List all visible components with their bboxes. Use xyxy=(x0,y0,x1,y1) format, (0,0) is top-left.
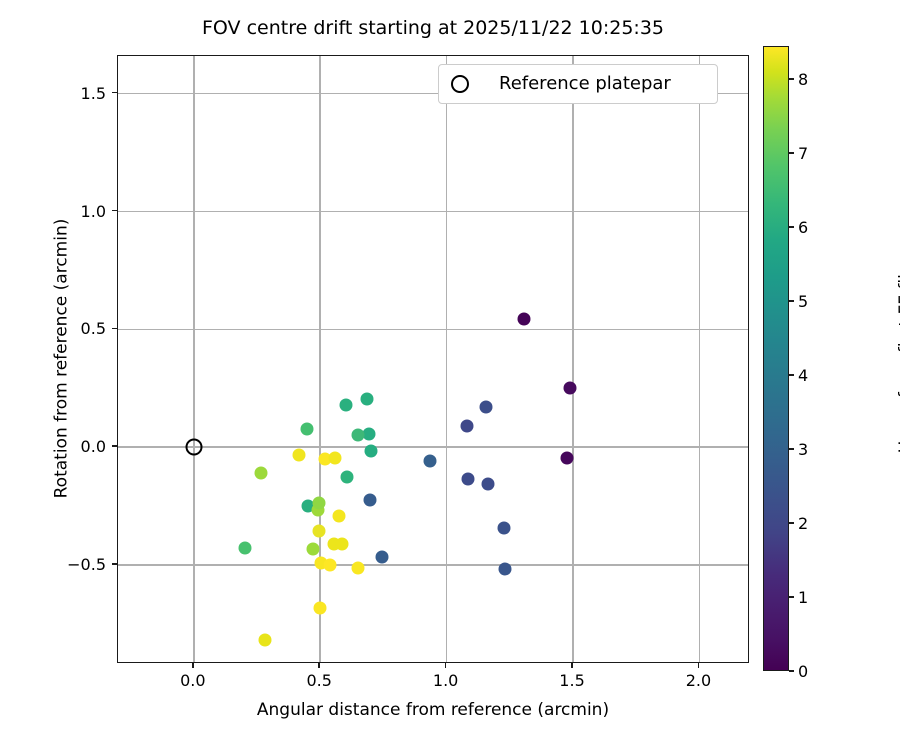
scatter-point xyxy=(351,429,364,442)
scatter-point xyxy=(339,399,352,412)
plot-axes xyxy=(117,55,749,663)
scatter-point xyxy=(365,444,378,457)
x-axis-tick-label: 1.0 xyxy=(411,671,481,690)
colorbar-tick-label: 8 xyxy=(798,70,808,89)
colorbar-tick xyxy=(789,78,794,80)
scatter-point xyxy=(423,455,436,468)
y-axis-tick-label: 0.5 xyxy=(36,319,106,338)
scatter-point xyxy=(360,392,373,405)
y-axis-tick xyxy=(112,563,117,565)
gridline-vertical xyxy=(446,56,448,662)
gridline-vertical xyxy=(699,56,701,662)
x-axis-tick xyxy=(192,663,194,668)
colorbar-tick xyxy=(789,226,794,228)
colorbar-tick-label: 4 xyxy=(798,366,808,385)
x-axis-label: Angular distance from reference (arcmin) xyxy=(117,700,749,721)
colorbar-tick-label: 5 xyxy=(798,292,808,311)
x-axis-tick xyxy=(571,663,573,668)
colorbar-tick xyxy=(789,300,794,302)
x-axis-tick-label: 0.5 xyxy=(284,671,354,690)
scatter-point xyxy=(517,312,530,325)
colorbar-tick xyxy=(789,670,794,672)
scatter-point xyxy=(323,558,336,571)
reference-platepar-point xyxy=(185,439,202,456)
scatter-point xyxy=(301,423,314,436)
y-axis-tick-label: 0.0 xyxy=(36,437,106,456)
colorbar-tick xyxy=(789,374,794,376)
y-axis-tick-label: 1.5 xyxy=(36,84,106,103)
legend-entry-label: Reference platepar xyxy=(499,73,671,95)
x-axis-tick-label: 0.0 xyxy=(158,671,228,690)
chart-title: FOV centre drift starting at 2025/11/22 … xyxy=(117,16,749,40)
scatter-point xyxy=(497,522,510,535)
scatter-point xyxy=(352,561,365,574)
gridline-horizontal xyxy=(118,211,748,213)
colorbar-tick-label: 6 xyxy=(798,218,808,237)
scatter-point xyxy=(254,466,267,479)
scatter-point xyxy=(307,543,320,556)
y-axis-tick-label: −0.5 xyxy=(36,555,106,574)
x-axis-tick-label: 2.0 xyxy=(663,671,733,690)
scatter-point xyxy=(239,542,252,555)
x-axis-tick xyxy=(318,663,320,668)
scatter-point xyxy=(563,381,576,394)
colorbar-label: Hours from first FF file xyxy=(896,46,900,671)
scatter-point xyxy=(462,473,475,486)
colorbar-tick xyxy=(789,596,794,598)
y-axis-tick xyxy=(112,445,117,447)
colorbar-tick-label: 2 xyxy=(798,514,808,533)
scatter-point xyxy=(336,538,349,551)
scatter-point xyxy=(375,550,388,563)
gridline-vertical xyxy=(319,56,321,662)
colorbar-tick-label: 3 xyxy=(798,440,808,459)
colorbar-tick xyxy=(789,522,794,524)
y-axis-tick xyxy=(112,92,117,94)
colorbar-tick xyxy=(789,448,794,450)
scatter-point xyxy=(313,496,326,509)
colorbar-tick-label: 1 xyxy=(798,588,808,607)
scatter-point xyxy=(313,525,326,538)
colorbar-gradient xyxy=(763,46,789,671)
gridline-horizontal xyxy=(118,329,748,331)
scatter-point xyxy=(332,510,345,523)
gridline-horizontal xyxy=(118,564,748,566)
colorbar-tick-label: 0 xyxy=(798,662,808,681)
gridline-vertical xyxy=(572,56,574,662)
scatter-point xyxy=(341,471,354,484)
scatter-point xyxy=(482,478,495,491)
y-axis-tick-label: 1.0 xyxy=(36,202,106,221)
x-axis-tick xyxy=(698,663,700,668)
scatter-point xyxy=(313,602,326,615)
scatter-point xyxy=(561,452,574,465)
y-axis-tick xyxy=(112,210,117,212)
scatter-point xyxy=(364,494,377,507)
colorbar-tick xyxy=(789,152,794,154)
matplotlib-figure: FOV centre drift starting at 2025/11/22 … xyxy=(0,0,900,750)
scatter-point xyxy=(328,451,341,464)
legend: Reference platepar xyxy=(438,64,718,104)
scatter-point xyxy=(499,562,512,575)
colorbar-tick-label: 7 xyxy=(798,144,808,163)
scatter-point xyxy=(460,420,473,433)
scatter-point xyxy=(363,428,376,441)
scatter-point xyxy=(259,633,272,646)
x-axis-tick-label: 1.5 xyxy=(537,671,607,690)
gridline-horizontal xyxy=(118,446,748,448)
reference-platepar-marker-icon xyxy=(451,75,469,93)
scatter-point xyxy=(479,400,492,413)
y-axis-tick xyxy=(112,328,117,330)
x-axis-tick xyxy=(445,663,447,668)
gridline-vertical xyxy=(193,56,195,662)
scatter-point xyxy=(293,448,306,461)
